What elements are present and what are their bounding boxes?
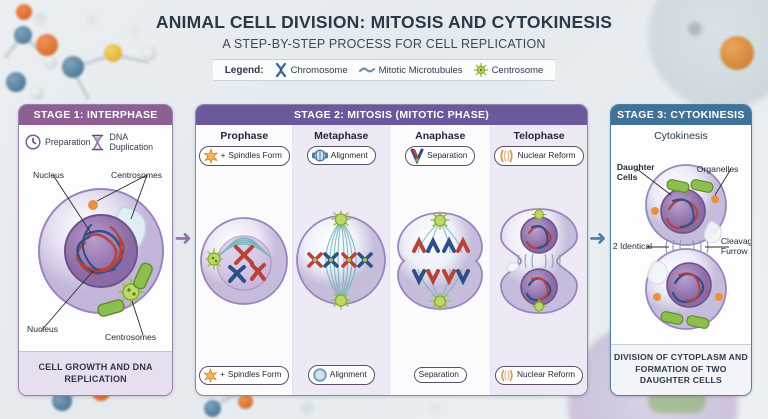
legend-item-label: Chromosome — [291, 65, 348, 76]
telophase-cell-diagram — [497, 207, 581, 315]
arrow-right-icon: ➜ — [174, 228, 192, 249]
callout-centrosomes-bottom: Centrosomes — [105, 333, 156, 343]
stage-3-header: STAGE 3: CYTOKINESIS — [611, 105, 751, 125]
stage-1-icon-row: Preparation DNA Duplication — [19, 125, 172, 154]
prophase-cell — [196, 166, 292, 355]
anaphase-cell-diagram — [390, 209, 490, 313]
stage-1-header: STAGE 1: INTERPHASE — [19, 105, 172, 125]
stages-container: STAGE 1: INTERPHASE Preparation — [0, 104, 768, 404]
preparation-item: Preparation — [25, 134, 90, 150]
telophase-cell — [491, 166, 587, 355]
phase-column-telophase: Telophase Nuclear Reform — [491, 125, 587, 395]
callout-organelles: Organelles — [697, 165, 739, 175]
dna-duplication-label: DNA Duplication — [109, 132, 166, 152]
phase-bottom-pill-anaphase[interactable]: Separation — [414, 367, 467, 382]
legend-item-label: Centrosome — [492, 65, 544, 76]
centrosome-bottom — [332, 292, 350, 309]
phase-top-pill-prophase[interactable]: + Spindles Form — [199, 146, 290, 166]
stage-1-body: Preparation DNA Duplication — [19, 125, 172, 351]
phase-title: Anaphase — [415, 130, 465, 142]
stage-3-body: Cytokinesis — [611, 125, 751, 344]
organelle-dot — [88, 200, 98, 210]
chromosome-icon — [275, 63, 287, 77]
anaphase-bottom-slot: Separation — [414, 355, 467, 395]
phase-column-metaphase: Metaphase Alignment — [293, 125, 390, 395]
stage-1-footer: CELL GROWTH AND DNA REPLICATION — [19, 351, 172, 395]
metaphase-cell-diagram — [293, 210, 389, 310]
preparation-label: Preparation — [45, 137, 90, 147]
phase-pill-label: Spindles Form — [228, 151, 282, 160]
hourglass-icon — [90, 134, 105, 151]
metaphase-cell — [293, 165, 389, 355]
phase-pill-label: Nuclear Reform — [517, 370, 575, 379]
phase-bottom-pill-prophase[interactable]: + Spindles Form — [199, 366, 289, 385]
prophase-cell-diagram — [196, 213, 292, 309]
callout-2-identical: 2 Identical — [613, 242, 652, 252]
page-subtitle: A STEP-BY-STEP PROCESS FOR CELL REPLICAT… — [0, 37, 768, 51]
phase-title: Prophase — [220, 130, 268, 142]
organelle-dot — [651, 207, 659, 215]
organelle-dot — [653, 293, 661, 301]
phase-column-anaphase: Anaphase Separation — [390, 125, 491, 395]
phase-pill-label: Alignment — [330, 370, 367, 379]
legend-item-microtubules: Mitotic Microtubules — [359, 65, 463, 76]
page-title: ANIMAL CELL DIVISION: MITOSIS AND CYTOKI… — [0, 12, 768, 33]
stage-3-panel: STAGE 3: CYTOKINESIS Cytokinesis — [610, 104, 752, 396]
legend-item-centrosome: Centrosome — [474, 63, 544, 77]
sphere-icon — [313, 368, 327, 382]
centrosome-icon — [474, 63, 488, 77]
phase-bottom-pill-metaphase[interactable]: Alignment — [308, 365, 375, 385]
stage-1-panel: STAGE 1: INTERPHASE Preparation — [18, 104, 173, 396]
microtubule-icon — [359, 65, 375, 75]
nucleus — [65, 215, 137, 287]
callout-nucleus-top: Nucleus — [33, 171, 64, 181]
metaphase-bottom-slot: Alignment — [308, 355, 375, 395]
telophase-bottom-slot: Nuclear Reform — [495, 355, 583, 395]
arrow-stage1-to-stage2: ➜ — [173, 104, 195, 396]
callout-nucleus-bottom: Nucleus — [27, 325, 58, 335]
stage-2-header: STAGE 2: MITOSIS (MITOTIC PHASE) — [196, 105, 587, 125]
interphase-cell-diagram — [19, 155, 173, 345]
starburst-icon — [204, 149, 218, 163]
reform-icon — [500, 369, 514, 382]
phase-column-prophase: Prophase + Spindles Form — [196, 125, 293, 395]
centrosome — [206, 249, 222, 269]
reform-icon — [499, 149, 514, 163]
organelle-dot — [715, 293, 723, 301]
clock-icon — [25, 134, 41, 150]
stage-2-panel: STAGE 2: MITOSIS (MITOTIC PHASE) Prophas… — [195, 104, 588, 396]
alignment-icon — [312, 149, 328, 162]
stage-3-subtitle: Cytokinesis — [611, 125, 751, 142]
phase-pill-label: Nuclear Reform — [517, 151, 575, 160]
organelle-dot — [711, 195, 719, 203]
page-header: ANIMAL CELL DIVISION: MITOSIS AND CYTOKI… — [0, 0, 768, 81]
legend-item-chromosome: Chromosome — [275, 63, 348, 77]
phase-title: Telophase — [513, 130, 564, 142]
phase-title: Metaphase — [314, 130, 368, 142]
phase-pill-label: Alignment — [331, 151, 368, 160]
phase-top-pill-telophase[interactable]: Nuclear Reform — [494, 146, 583, 166]
phase-top-pill-anaphase[interactable]: Separation — [405, 146, 475, 166]
phase-pill-label: Separation — [419, 370, 459, 379]
legend-item-label: Mitotic Microtubules — [379, 65, 463, 76]
legend-label: Legend: — [225, 65, 264, 76]
dna-duplication-item: DNA Duplication — [90, 132, 166, 152]
split-icon — [410, 149, 424, 163]
stage-2-phase-columns: Prophase + Spindles Form — [196, 125, 587, 395]
starburst-icon — [204, 369, 217, 382]
anaphase-cell — [390, 166, 490, 355]
arrow-right-icon: ➜ — [589, 228, 607, 249]
callout-cleavage-furrow: Cleavage Furrow — [721, 237, 752, 256]
legend: Legend: Chromosome Mitotic Microtubules — [213, 59, 556, 81]
prophase-bottom-slot: + Spindles Form — [199, 355, 289, 395]
phase-pill-label: Separation — [427, 151, 467, 160]
stage-3-footer: DIVISION OF CYTOPLASM AND FORMATION OF T… — [611, 344, 751, 395]
phase-top-pill-metaphase[interactable]: Alignment — [307, 146, 376, 165]
phase-pill-label: Spindles Form — [228, 370, 282, 379]
callout-daughter-cells: Daughter Cells — [617, 163, 663, 182]
phase-bottom-pill-telophase[interactable]: Nuclear Reform — [495, 366, 583, 385]
arrow-stage2-to-stage3: ➜ — [588, 104, 610, 396]
callout-centrosomes-top: Centrosomes — [111, 171, 162, 181]
